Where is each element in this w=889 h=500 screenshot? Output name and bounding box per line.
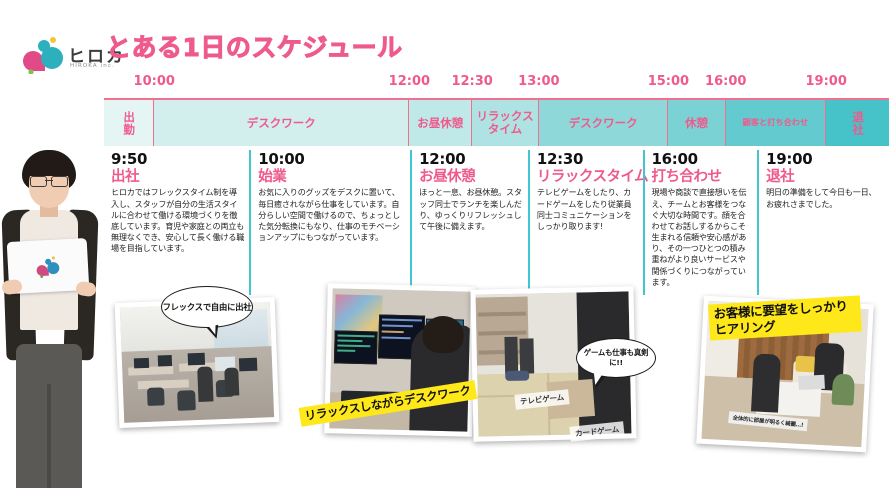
- timeline-segment-0: 出勤: [104, 100, 154, 146]
- timeline-segment-7: 退社: [826, 100, 889, 146]
- page-title: とある1日のスケジュール: [106, 28, 403, 64]
- laptop-logo-icon: [29, 253, 68, 279]
- callout-bubble-office: フレックスで自由に出社: [161, 286, 253, 328]
- employee-photo: [0, 148, 104, 488]
- column-time: 19:00: [766, 152, 884, 168]
- timeline-tick-4: 15:00: [648, 74, 689, 89]
- timeline-bar: 出勤デスクワークお昼休憩リラックスタイムデスクワーク休憩顧客と打ち合わせ退社: [104, 98, 889, 146]
- timeline-tick-2: 12:30: [451, 74, 492, 89]
- column-body: ヒロカではフレックスタイム制を導入し、スタッフが自分の生活スタイルに合わせて働け…: [111, 187, 244, 254]
- timeline-segment-4: デスクワーク: [539, 100, 669, 146]
- timeline: 10:0012:0012:3013:0015:0016:0019:00 出勤デス…: [104, 74, 889, 144]
- schedule-columns: 9:50出社ヒロカではフレックスタイム制を導入し、スタッフが自分の生活スタイルに…: [104, 150, 889, 295]
- column-heading: 出社: [111, 169, 244, 186]
- glasses-icon: [29, 176, 69, 185]
- schedule-column-0: 9:50出社ヒロカではフレックスタイム制を導入し、スタッフが自分の生活スタイルに…: [104, 150, 249, 295]
- schedule-column-3: 12:30リラックスタイムテレビゲームをしたり、カードゲームをしたり従業員同士コ…: [528, 150, 643, 295]
- column-time: 16:00: [652, 152, 753, 168]
- column-heading: 退社: [766, 169, 884, 186]
- schedule-column-5: 19:00退社明日の準備をして今日も一日、お疲れさまでした。: [757, 150, 889, 295]
- timeline-segment-2: お昼休憩: [409, 100, 472, 146]
- timeline-segment-6: 顧客と打ち合わせ: [726, 100, 826, 146]
- column-body: 現場や商談で直接想いを伝え、チームとお客様をつなぐ大切な時間です。顔を合わせてお…: [652, 187, 753, 287]
- schedule-column-4: 16:00打ち合わせ現場や商談で直接想いを伝え、チームとお客様をつなぐ大切な時間…: [643, 150, 758, 295]
- timeline-tick-0: 10:00: [134, 74, 175, 89]
- timeline-tick-6: 19:00: [805, 74, 846, 89]
- column-body: お気に入りのグッズをデスクに置いて、毎日癒されながら仕事をしています。自分らしい…: [258, 187, 405, 243]
- hair-front: [25, 158, 73, 176]
- callout-bubble-game: ゲームも仕事も真剣に!!: [576, 338, 656, 378]
- timeline-segment-3: リラックスタイム: [472, 100, 539, 146]
- column-body: 明日の準備をして今日も一日、お疲れさまでした。: [766, 187, 884, 209]
- column-time: 12:30: [537, 152, 638, 168]
- column-body: ほっと一息、お昼休憩。スタッフ同士でランチを楽しんだり、ゆっくりリフレッシュして…: [419, 187, 523, 232]
- column-time: 12:00: [419, 152, 523, 168]
- schedule-infographic: ヒロカ HIROKA inc. とある1日のスケジュール 10:0012:001…: [0, 0, 889, 500]
- column-heading: 打ち合わせ: [652, 169, 753, 186]
- pants: [16, 344, 82, 488]
- timeline-segment-5: 休憩: [668, 100, 725, 146]
- column-time: 9:50: [111, 152, 244, 168]
- timeline-tick-1: 12:00: [389, 74, 430, 89]
- schedule-column-2: 12:00お昼休憩ほっと一息、お昼休憩。スタッフ同士でランチを楽しんだり、ゆっく…: [410, 150, 528, 295]
- column-body: テレビゲームをしたり、カードゲームをしたり従業員同士コミュニケーションをしっかり…: [537, 187, 638, 232]
- timeline-tick-5: 16:00: [705, 74, 746, 89]
- schedule-column-1: 10:00始業お気に入りのグッズをデスクに置いて、毎日癒されながら仕事をしていま…: [249, 150, 410, 295]
- column-time: 10:00: [258, 152, 405, 168]
- column-heading: お昼休憩: [419, 169, 523, 186]
- column-heading: 始業: [258, 169, 405, 186]
- timeline-tick-3: 13:00: [518, 74, 559, 89]
- timeline-segment-1: デスクワーク: [154, 100, 409, 146]
- column-heading: リラックスタイム: [537, 169, 638, 186]
- logo-mark-icon: [22, 34, 68, 74]
- timeline-ticks: 10:0012:0012:3013:0015:0016:0019:00: [104, 74, 889, 98]
